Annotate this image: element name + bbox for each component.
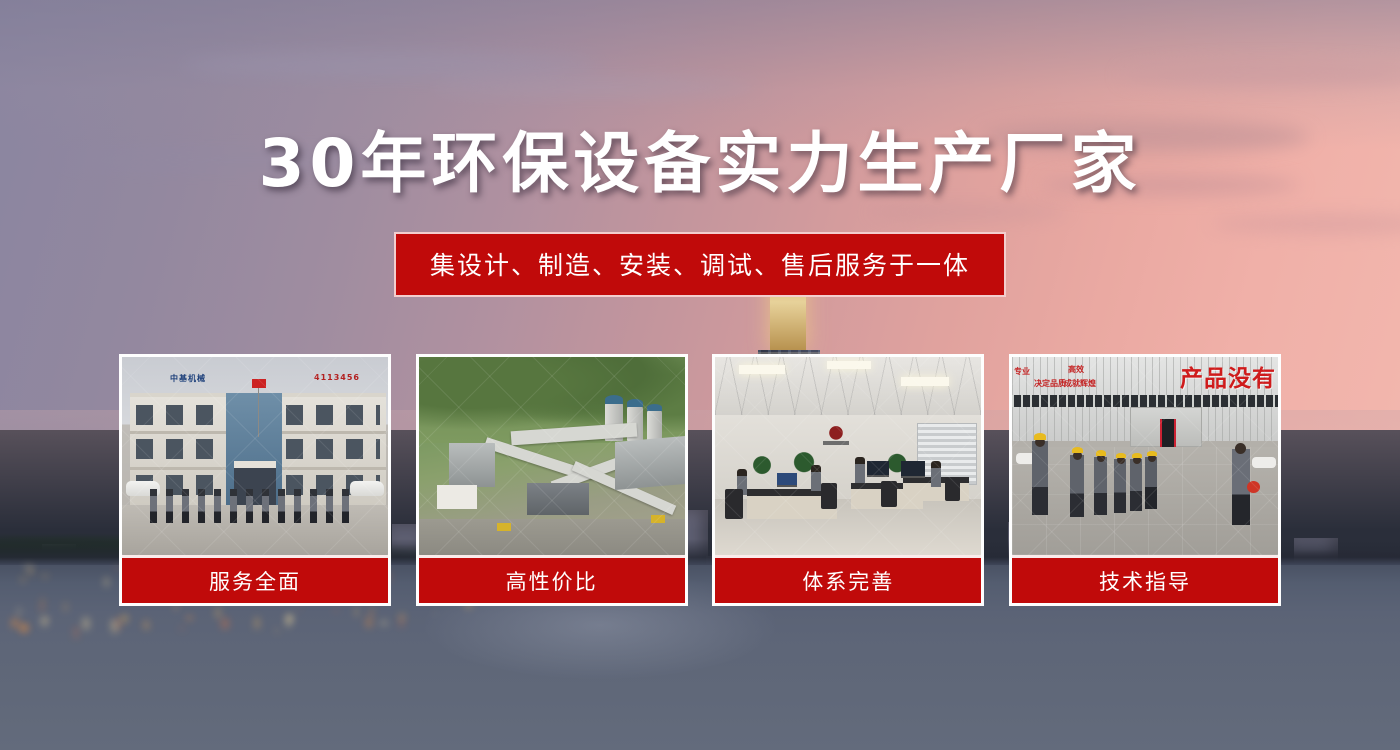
water-light-reflection — [120, 614, 128, 624]
window-blinds — [917, 423, 977, 485]
facade-window-band — [1012, 395, 1278, 407]
plant-hangar — [527, 483, 589, 515]
cloud — [1210, 215, 1400, 233]
water-light-reflection — [144, 622, 147, 628]
water-light-reflection — [20, 576, 26, 583]
water-light-reflection — [399, 614, 405, 619]
staff-person — [198, 489, 205, 523]
staff-person — [150, 489, 157, 523]
excavator — [497, 523, 511, 531]
monitor — [867, 461, 889, 477]
office-chair — [821, 483, 837, 509]
building-sign-text: 中基机械 — [170, 373, 206, 384]
worker — [1032, 441, 1048, 515]
silo-cap — [647, 404, 662, 411]
plant-shed — [449, 443, 495, 487]
staff-person — [230, 489, 237, 523]
hard-hat-icon — [1132, 453, 1142, 458]
water-light-reflection — [369, 608, 374, 617]
subtitle-container: 集设计、制造、安装、调试、售后服务于一体 — [0, 232, 1400, 297]
aerial-plant-photo — [419, 357, 685, 555]
water-light-reflection — [11, 618, 19, 627]
subtitle-badge: 集设计、制造、安装、调试、售后服务于一体 — [394, 232, 1006, 297]
staff-person — [310, 489, 317, 523]
silo-cap — [627, 399, 643, 407]
water-light-reflection — [47, 618, 50, 620]
potted-plant — [749, 453, 775, 475]
staff-person — [342, 489, 349, 523]
water-light-reflection — [110, 619, 117, 626]
feature-card[interactable]: 产品没有 专业 决定品质 高效 成就辉煌 — [1009, 354, 1281, 606]
feature-card[interactable]: 体系完善 — [712, 354, 984, 606]
promo-banner: 30年环保设备实力生产厂家 集设计、制造、安装、调试、售后服务于一体 中基机械 — [0, 0, 1400, 750]
feature-card[interactable]: 中基机械 4113456 服务全面 — [119, 354, 391, 606]
water-light-reflection — [286, 614, 293, 624]
parked-car — [350, 481, 384, 496]
water-light-reflection — [215, 607, 221, 619]
building-phone-text: 4113456 — [314, 373, 360, 382]
cloud — [1120, 62, 1400, 88]
water-light-reflection — [221, 618, 229, 630]
staff-person — [278, 489, 285, 523]
staff-person — [214, 489, 221, 523]
worker — [1145, 457, 1157, 509]
factory-slogan-text: 决定品质 — [1034, 379, 1066, 389]
hard-hat-icon — [1034, 433, 1046, 440]
water-light-reflection — [186, 616, 193, 619]
water-light-reflection — [104, 577, 109, 587]
staff-person — [262, 489, 269, 523]
laptop — [777, 473, 797, 487]
factory-slogan-text: 成就辉煌 — [1064, 379, 1096, 389]
water-light-reflection — [29, 568, 33, 576]
silo — [647, 409, 662, 441]
water-light-reflection — [63, 602, 68, 612]
worker — [1130, 459, 1142, 511]
worker — [1114, 459, 1126, 513]
ceiling-light — [739, 365, 785, 374]
water-light-reflection — [254, 617, 260, 629]
supervisor-head — [1235, 443, 1246, 454]
factory-sign-text: 产品没有 — [1180, 359, 1276, 393]
silo-cap — [605, 395, 623, 404]
water-light-reflection — [180, 626, 184, 630]
office-chair — [945, 477, 960, 501]
hard-hat-icon — [1116, 453, 1126, 458]
worker — [1094, 457, 1107, 515]
plant-road — [419, 519, 685, 555]
hard-hat-icon — [1147, 451, 1157, 456]
feature-card-list: 中基机械 4113456 服务全面 — [119, 354, 1281, 606]
water-light-reflection — [115, 566, 118, 569]
water-light-reflection — [380, 621, 389, 624]
staff-person — [166, 489, 173, 523]
page-title: 30年环保设备实力生产厂家 — [0, 131, 1400, 197]
water-light-reflection — [41, 575, 49, 577]
cloud — [430, 78, 760, 96]
water-light-reflection — [334, 609, 338, 612]
staff-person — [182, 489, 189, 523]
staff-person — [294, 489, 301, 523]
ceiling-light — [901, 377, 949, 386]
building-entrance — [234, 461, 276, 505]
factory-side-door — [1160, 419, 1176, 447]
hard-hat-icon — [1096, 450, 1106, 456]
water-light-reflection — [355, 607, 358, 617]
factory-slogan-text: 专业 — [1014, 367, 1030, 377]
feature-card-label: 体系完善 — [715, 555, 981, 603]
company-headquarters-photo: 中基机械 4113456 — [122, 357, 388, 555]
factory-workers-photo: 产品没有 专业 决定品质 高效 成就辉煌 — [1012, 357, 1278, 555]
water-light-reflection — [297, 607, 300, 610]
cloud — [870, 205, 1070, 219]
water-light-reflection — [20, 624, 28, 633]
water-light-reflection — [17, 607, 21, 616]
worker — [1070, 455, 1084, 517]
ceiling-light — [827, 361, 871, 369]
wall-logo — [819, 423, 853, 449]
hard-hat-icon — [1072, 447, 1083, 453]
plant-office — [437, 485, 477, 509]
staff-person — [326, 489, 333, 523]
parked-car — [1252, 457, 1276, 468]
excavator — [651, 515, 665, 523]
water-light-reflection — [365, 617, 373, 628]
monitor — [901, 461, 925, 478]
office-interior-photo — [715, 357, 981, 555]
feature-card-label: 技术指导 — [1012, 555, 1278, 603]
plant-shed — [615, 436, 685, 490]
water-light-reflection — [82, 617, 90, 631]
factory-slogan-text: 高效 — [1068, 365, 1084, 375]
national-flag — [252, 379, 266, 388]
cloud — [180, 52, 600, 78]
office-worker — [811, 465, 821, 491]
office-worker — [855, 457, 865, 483]
staff-person — [246, 489, 253, 523]
water-light-reflection — [276, 627, 278, 635]
office-chair — [725, 489, 743, 519]
office-chair — [881, 481, 897, 507]
water-light-reflection — [74, 626, 78, 638]
office-worker — [931, 461, 941, 487]
feature-card-label: 高性价比 — [419, 555, 685, 603]
feature-card-label: 服务全面 — [122, 555, 388, 603]
red-helmet-icon — [1247, 481, 1260, 493]
feature-card[interactable]: 高性价比 — [416, 354, 688, 606]
